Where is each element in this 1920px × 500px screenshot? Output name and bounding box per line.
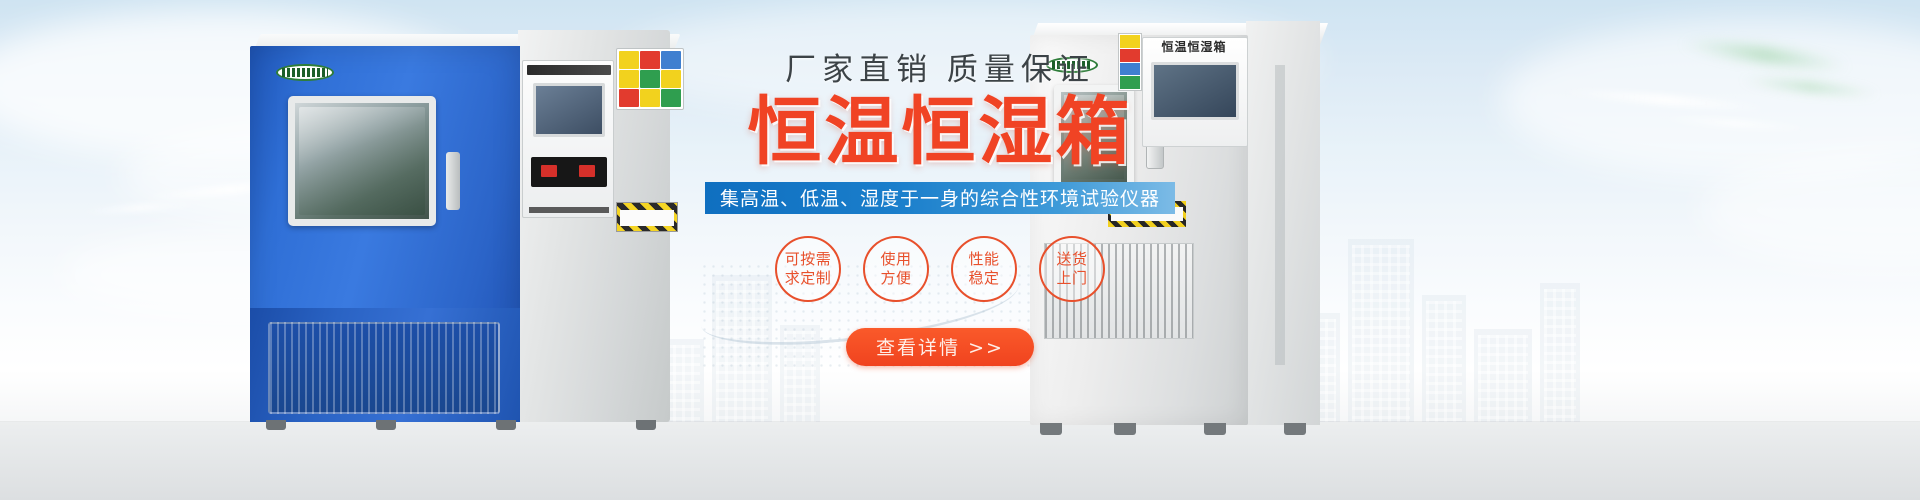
subtitle-bar: 集高温、低温、湿度于一身的综合性环境试验仪器 <box>705 182 1175 214</box>
headline: 恒温恒湿箱 <box>640 93 1240 173</box>
door-handle <box>446 152 460 210</box>
chamber-feet <box>1034 423 1318 435</box>
vent-grille <box>268 322 500 414</box>
ground-strip <box>0 422 1920 500</box>
subtitle-text: 集高温、低温、湿度于一身的综合性环境试验仪器 <box>720 184 1160 211</box>
feature-badge-3[interactable]: 性能 稳定 <box>951 236 1017 302</box>
view-details-button[interactable]: 查看详情 >> <box>846 328 1034 366</box>
banner-copy-block: 厂家直销 质量保证 恒温恒湿箱 集高温、低温、湿度于一身的综合性环境试验仪器 可… <box>640 44 1240 366</box>
feature-badge-4[interactable]: 送货 上门 <box>1039 236 1105 302</box>
badge-line-2: 方便 <box>880 269 911 288</box>
badge-line-2: 稳定 <box>968 269 999 288</box>
brand-logo-icon <box>276 64 334 81</box>
tagline: 厂家直销 质量保证 <box>640 44 1240 89</box>
panel-button <box>579 165 595 177</box>
badge-line-2: 求定制 <box>785 269 832 288</box>
chamber-feet <box>256 420 666 430</box>
chamber-window <box>288 96 436 226</box>
badge-line-1: 使用 <box>880 250 911 269</box>
badge-line-1: 可按需 <box>785 250 832 269</box>
feature-badge-2[interactable]: 使用 方便 <box>863 236 929 302</box>
cloud-wisp <box>1700 150 1920 270</box>
panel-button <box>541 165 557 177</box>
panel-screen <box>533 83 605 137</box>
feature-badge-list: 可按需 求定制 使用 方便 性能 稳定 送货 上门 <box>640 236 1240 302</box>
badge-line-1: 性能 <box>968 250 999 269</box>
badge-line-1: 送货 <box>1056 250 1087 269</box>
badge-line-2: 上门 <box>1056 269 1087 288</box>
light-streak <box>1660 115 1810 132</box>
promo-banner: 恒温恒湿箱 厂家直销 质量保证 恒温恒湿箱 集高温、低温、湿度于一身的综合性环境… <box>0 0 1920 500</box>
feature-badge-1[interactable]: 可按需 求定制 <box>775 236 841 302</box>
product-left-chamber <box>250 22 670 422</box>
light-streak <box>1560 86 1770 114</box>
cloud-wisp <box>1500 20 1920 180</box>
green-streak <box>1740 75 1880 100</box>
light-streak <box>80 201 200 215</box>
control-panel <box>522 60 614 218</box>
green-streak <box>1680 36 1850 74</box>
